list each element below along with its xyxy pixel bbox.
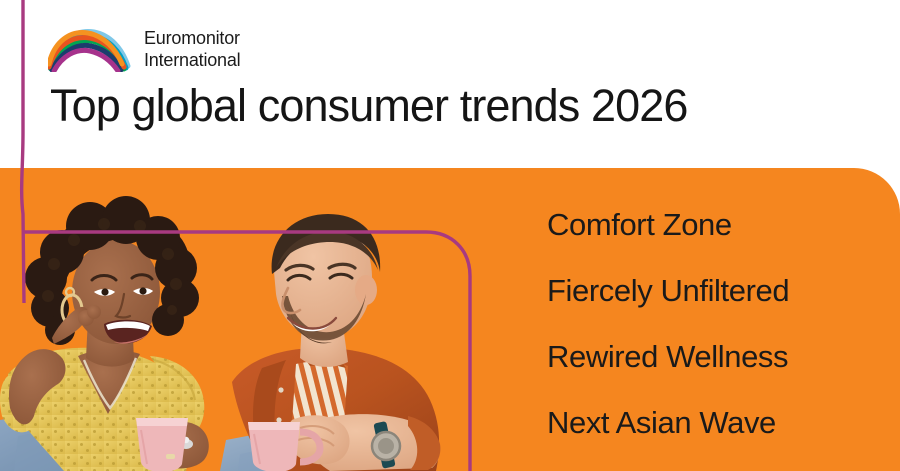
promo-banner: Euromonitor International Top global con… [0, 0, 900, 471]
logo-wordmark: Euromonitor International [144, 28, 240, 72]
trend-item-1[interactable]: Comfort Zone [547, 192, 877, 258]
hero-photo [0, 168, 472, 471]
trend-item-2[interactable]: Fiercely Unfiltered [547, 258, 877, 324]
trend-item-3[interactable]: Rewired Wellness [547, 324, 877, 390]
page-title: Top global consumer trends 2026 [50, 80, 688, 132]
trend-item-4[interactable]: Next Asian Wave [547, 390, 877, 456]
logo-line-1: Euromonitor [144, 28, 240, 50]
euromonitor-logo[interactable]: Euromonitor International [48, 24, 278, 76]
trend-list: Comfort Zone Fiercely Unfiltered Rewired… [547, 192, 877, 456]
rainbow-arc-logo-icon [48, 26, 132, 72]
logo-line-2: International [144, 50, 240, 72]
header-bar: Euromonitor International Top global con… [0, 0, 900, 168]
